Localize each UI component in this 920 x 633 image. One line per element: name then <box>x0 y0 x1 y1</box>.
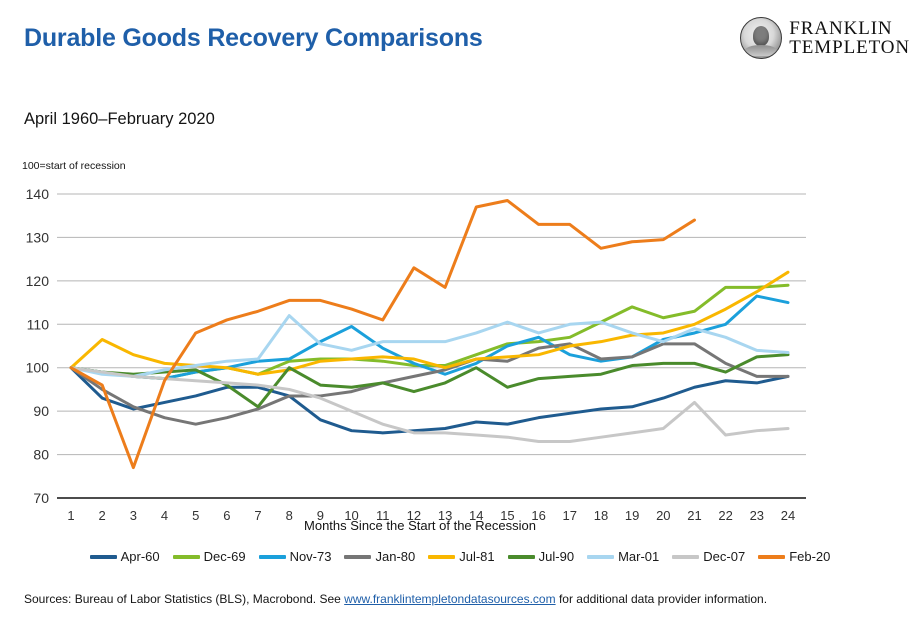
legend-swatch-icon <box>173 555 200 559</box>
line-chart-svg: 708090100110120130140 123456789101112131… <box>0 180 920 540</box>
y-axis-tick-label: 110 <box>27 316 50 332</box>
legend-item-dec-07[interactable]: Dec-07 <box>672 549 745 564</box>
chart-legend: Apr-60Dec-69Nov-73Jan-80Jul-81Jul-90Mar-… <box>0 549 920 564</box>
page-title: Durable Goods Recovery Comparisons <box>24 24 483 53</box>
x-axis-tick-label: 4 <box>161 508 168 523</box>
legend-swatch-icon <box>587 555 614 559</box>
legend-item-jul-90[interactable]: Jul-90 <box>508 549 574 564</box>
y-axis-tick-label: 130 <box>26 229 50 245</box>
y-axis-tick-label: 140 <box>26 186 50 202</box>
gridlines <box>57 194 806 498</box>
franklin-templeton-logo: FRANKLIN TEMPLETON <box>740 17 910 59</box>
logo-line-templeton: TEMPLETON <box>789 38 910 57</box>
x-axis-tick-label: 20 <box>656 508 670 523</box>
series-lines <box>71 201 788 468</box>
x-axis-tick-label: 5 <box>192 508 199 523</box>
x-axis-tick-label: 7 <box>254 508 261 523</box>
x-axis-tick-label: 21 <box>687 508 701 523</box>
footnote-after-link: for additional data provider information… <box>556 592 767 606</box>
page-header: Durable Goods Recovery Comparisons FRANK… <box>0 0 920 78</box>
x-axis-tick-label: 1 <box>67 508 74 523</box>
chart-page: Durable Goods Recovery Comparisons FRANK… <box>0 0 920 633</box>
chart-plot-area: 708090100110120130140 123456789101112131… <box>0 180 920 540</box>
legend-label: Jan-80 <box>375 549 415 564</box>
legend-swatch-icon <box>90 555 117 559</box>
franklin-portrait-icon <box>740 17 782 59</box>
x-axis-tick-label: 8 <box>286 508 293 523</box>
legend-item-dec-69[interactable]: Dec-69 <box>173 549 246 564</box>
x-axis-tick-label: 3 <box>130 508 137 523</box>
legend-swatch-icon <box>344 555 371 559</box>
legend-swatch-icon <box>672 555 699 559</box>
legend-label: Jul-90 <box>539 549 574 564</box>
legend-item-mar-01[interactable]: Mar-01 <box>587 549 659 564</box>
legend-label: Dec-07 <box>703 549 745 564</box>
x-axis-tick-label: 6 <box>223 508 230 523</box>
y-axis-tick-labels: 708090100110120130140 <box>26 186 50 506</box>
legend-label: Jul-81 <box>459 549 494 564</box>
legend-item-jul-81[interactable]: Jul-81 <box>428 549 494 564</box>
legend-label: Mar-01 <box>618 549 659 564</box>
chart-units-note: 100=start of recession <box>22 160 126 172</box>
legend-swatch-icon <box>428 555 455 559</box>
legend-swatch-icon <box>508 555 535 559</box>
y-axis-tick-label: 120 <box>26 273 50 289</box>
series-line-apr-60 <box>71 368 788 433</box>
x-axis-tick-label: 2 <box>99 508 106 523</box>
legend-label: Feb-20 <box>789 549 830 564</box>
y-axis-tick-label: 70 <box>33 490 49 506</box>
x-axis-tick-label: 23 <box>750 508 764 523</box>
logo-line-franklin: FRANKLIN <box>789 19 910 38</box>
y-axis-tick-label: 80 <box>33 447 49 463</box>
legend-label: Dec-69 <box>204 549 246 564</box>
footnote-before-link: Sources: Bureau of Labor Statistics (BLS… <box>24 592 344 606</box>
y-axis-tick-label: 90 <box>33 403 49 419</box>
x-axis-title: Months Since the Start of the Recession <box>304 518 536 533</box>
series-line-jan-80 <box>71 344 788 424</box>
x-axis-tick-label: 19 <box>625 508 639 523</box>
sources-footnote: Sources: Bureau of Labor Statistics (BLS… <box>24 592 767 606</box>
chart-subtitle: April 1960–February 2020 <box>24 110 215 129</box>
legend-item-feb-20[interactable]: Feb-20 <box>758 549 830 564</box>
data-sources-link[interactable]: www.franklintempletondatasources.com <box>344 592 555 606</box>
x-axis-tick-label: 24 <box>781 508 795 523</box>
legend-swatch-icon <box>259 555 286 559</box>
series-line-feb-20 <box>71 201 694 468</box>
legend-item-nov-73[interactable]: Nov-73 <box>259 549 332 564</box>
y-axis-tick-label: 100 <box>26 360 50 376</box>
x-axis-tick-label: 17 <box>563 508 577 523</box>
legend-label: Apr-60 <box>121 549 160 564</box>
x-axis-tick-label: 22 <box>718 508 732 523</box>
logo-wordmark: FRANKLIN TEMPLETON <box>789 19 910 58</box>
legend-item-apr-60[interactable]: Apr-60 <box>90 549 160 564</box>
legend-label: Nov-73 <box>290 549 332 564</box>
legend-swatch-icon <box>758 555 785 559</box>
x-axis-tick-label: 18 <box>594 508 608 523</box>
legend-item-jan-80[interactable]: Jan-80 <box>344 549 415 564</box>
